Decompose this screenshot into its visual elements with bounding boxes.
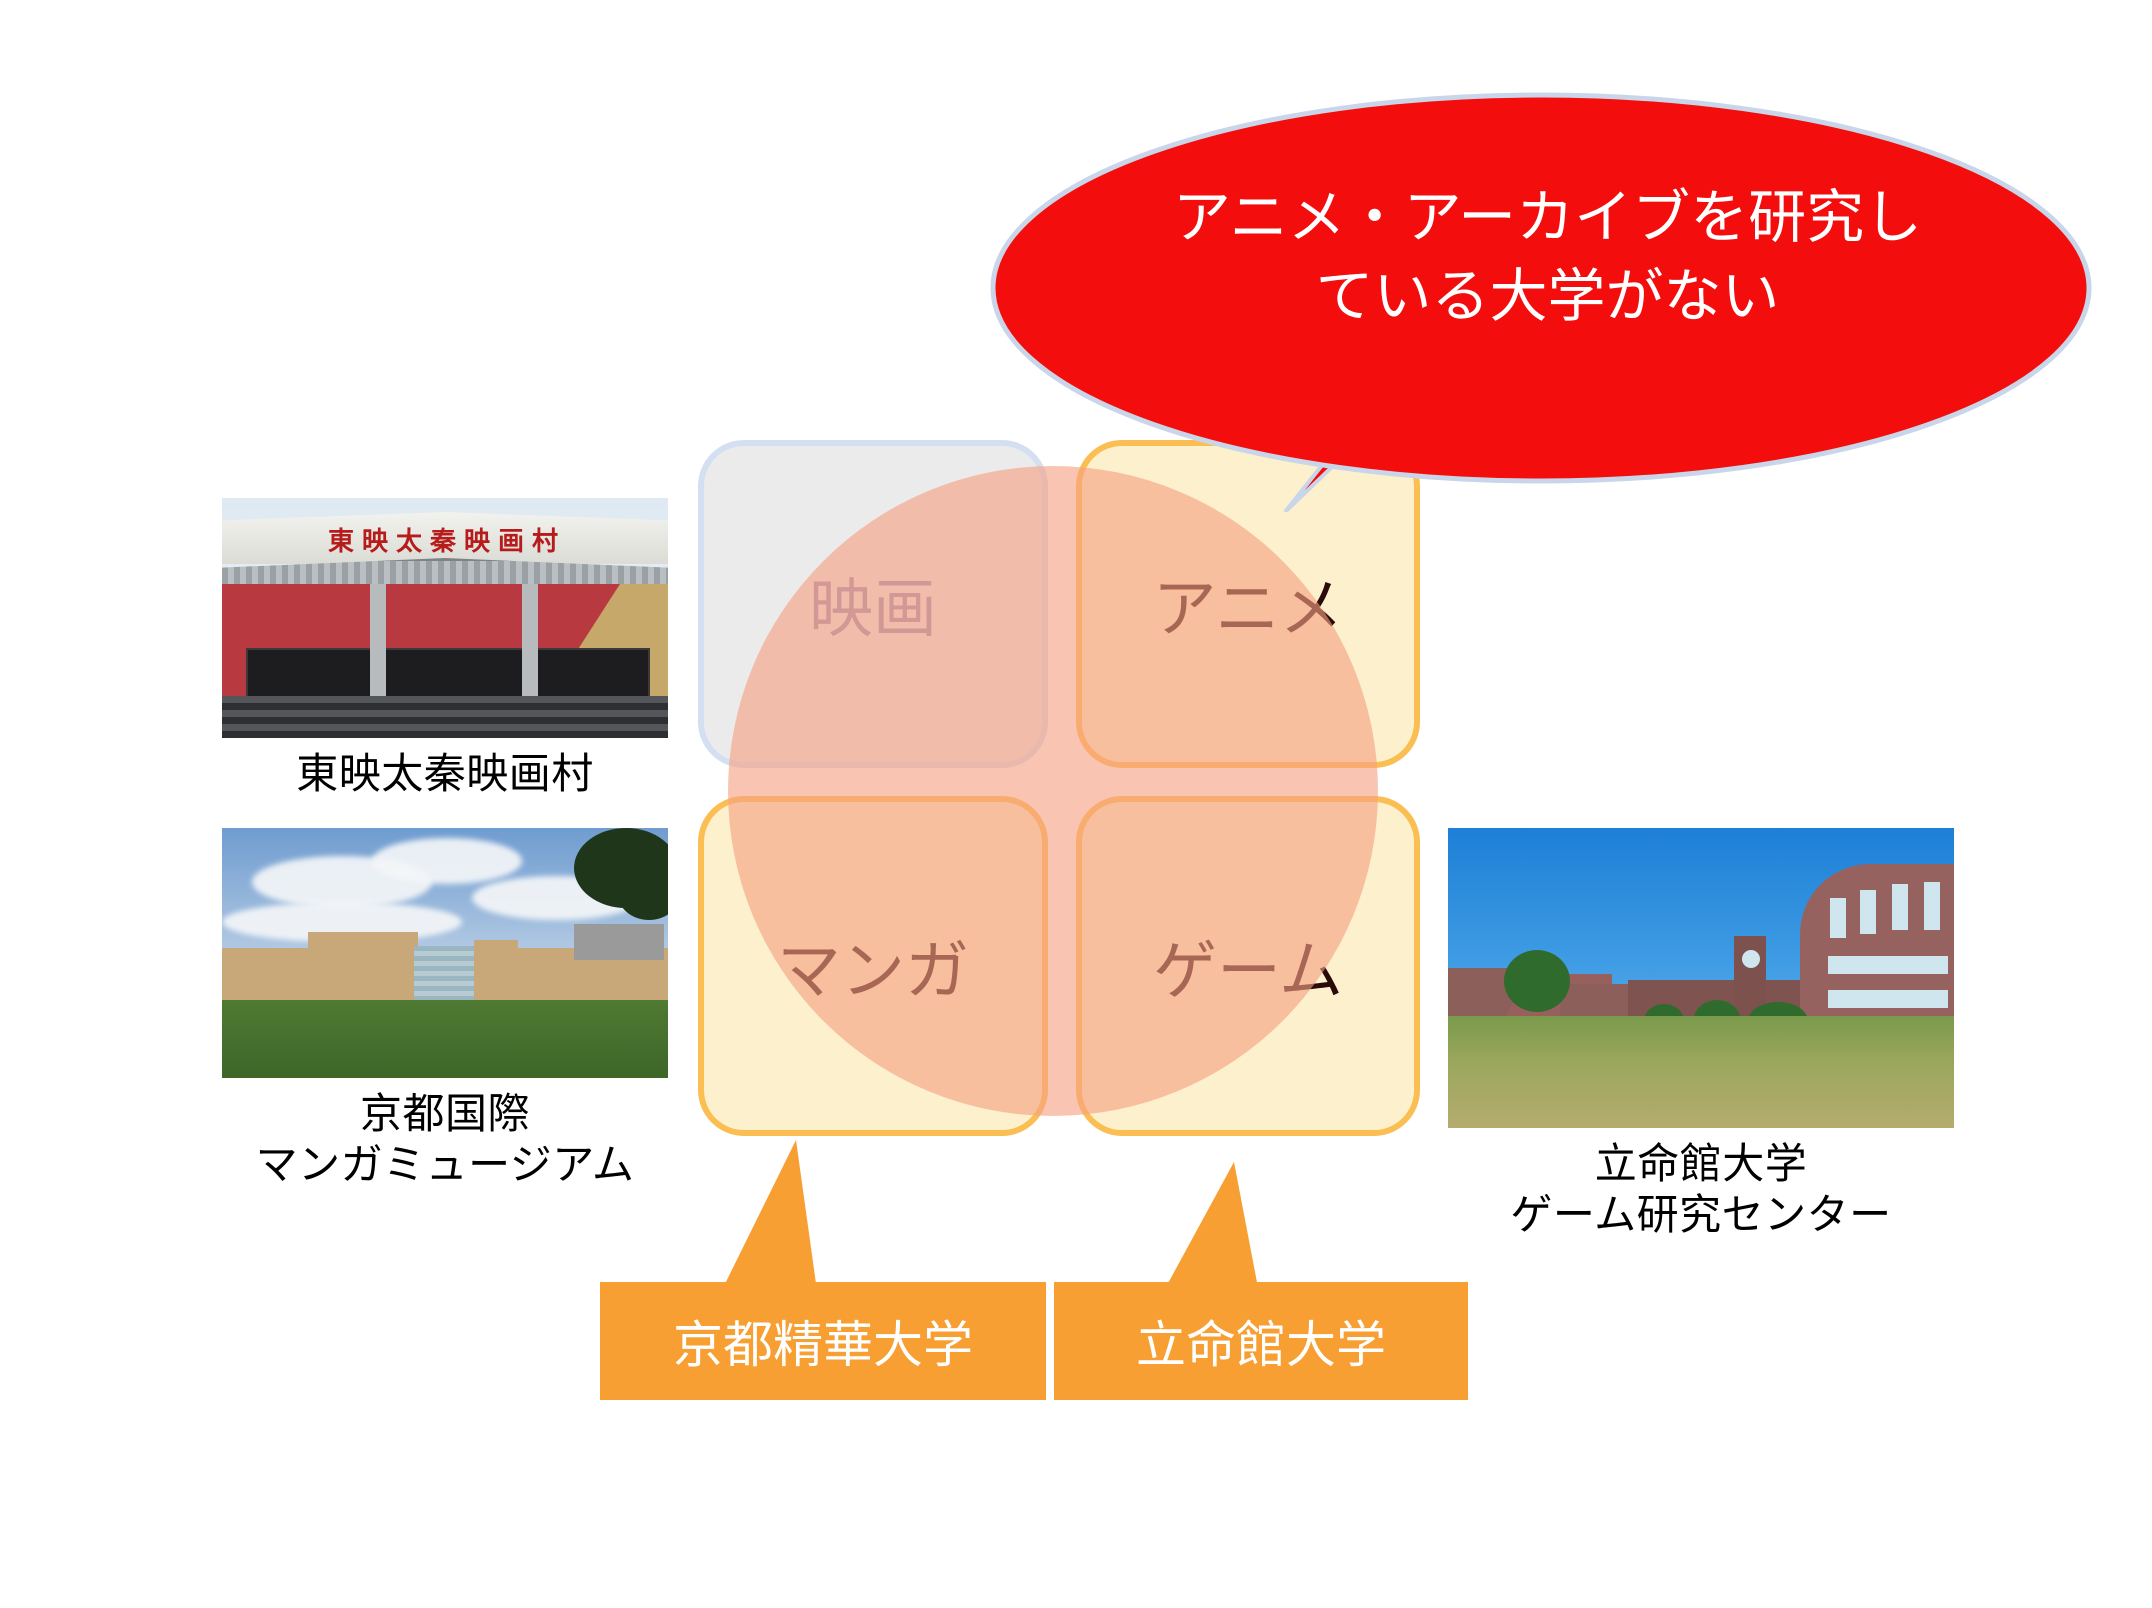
photo-lawn (1448, 1016, 1954, 1128)
quadrant-label-eiga: 映画 (809, 558, 937, 650)
photo-block-eigamura: 東映太秦映画村 東映太秦映画村 (222, 498, 668, 799)
speech-bubble-text: アニメ・アーカイブを研究し ている大学がない (985, 178, 2110, 336)
photo-block-ritsumeikan: 立命館大学 ゲーム研究センター (1448, 828, 1954, 1240)
photo-steps (222, 696, 668, 738)
photo-column (522, 584, 538, 696)
photo-lawn (222, 1000, 668, 1078)
photo-window-band (1828, 956, 1948, 974)
quadrant-label-anime: アニメ (1153, 558, 1344, 650)
photo-eigamura: 東映太秦映画村 (222, 498, 668, 738)
photo-clock-face (1742, 950, 1760, 968)
photo-window (1830, 898, 1846, 938)
photo-column (370, 584, 386, 696)
photo-cloud (372, 838, 522, 884)
photo-window (1924, 882, 1940, 930)
photo-tree (1504, 950, 1570, 1012)
quadrant-box-manga[interactable]: マンガ (698, 796, 1048, 1136)
callout-label-seika: 京都精華大学 (673, 1305, 973, 1377)
photo-manga-museum (222, 828, 668, 1078)
quadrant-label-game: ゲーム (1153, 920, 1343, 1012)
callout-label-ritsumeikan: 立命館大学 (1136, 1305, 1386, 1377)
callout-box-seika[interactable]: 京都精華大学 (600, 1282, 1046, 1400)
photo-window-band (1828, 990, 1948, 1008)
photo-caption-ritsumeikan: 立命館大学 ゲーム研究センター (1448, 1138, 1954, 1240)
callout-pointer (718, 1140, 818, 1298)
quadrant-label-manga: マンガ (777, 920, 969, 1012)
photo-window (1892, 884, 1908, 930)
callout-box-ritsumeikan[interactable]: 立命館大学 (1054, 1282, 1468, 1400)
slide-canvas: 東映太秦映画村 東映太秦映画村 京都国際 マンガミュー (0, 0, 2152, 1608)
photo-caption-eigamura: 東映太秦映画村 (222, 748, 668, 799)
photo-ritsumeikan (1448, 828, 1954, 1128)
photo-signboard (574, 924, 664, 960)
callout-pointer (1160, 1162, 1260, 1298)
quadrant-diagram: 映画 アニメ マンガ ゲーム (692, 438, 1420, 1140)
photo-window (1860, 890, 1876, 934)
photo-window-row (246, 648, 650, 700)
photo-sign-text: 東映太秦映画村 (250, 522, 644, 556)
photo-block-manga-museum: 京都国際 マンガミュージアム (222, 828, 668, 1190)
callout-ritsumeikan[interactable]: 立命館大学 (1054, 1140, 1468, 1400)
quadrant-box-game[interactable]: ゲーム (1076, 796, 1420, 1136)
callout-seika[interactable]: 京都精華大学 (600, 1140, 1046, 1400)
